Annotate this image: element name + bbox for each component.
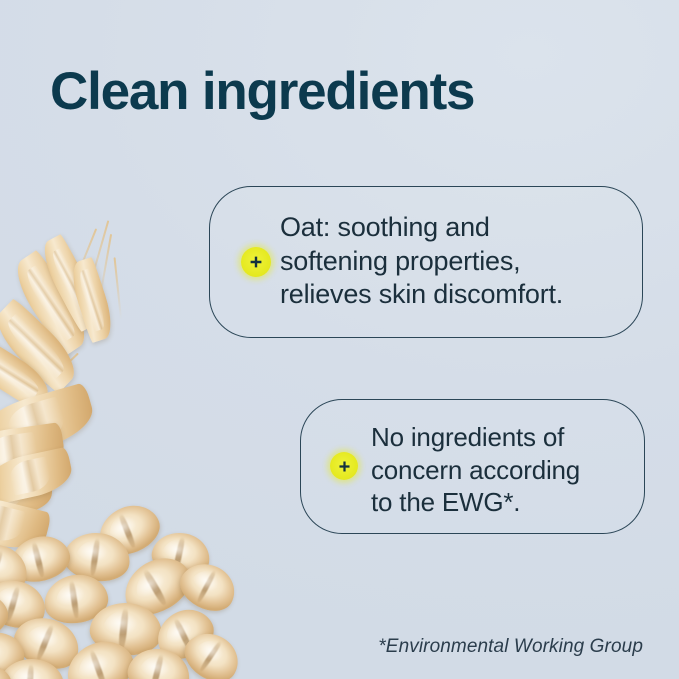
plus-icon [241,247,271,277]
plus-icon [330,452,358,480]
info-card-oat-benefit: Oat: soothing and softening properties, … [209,186,643,338]
info-card-text: No ingredients of concern according to t… [371,421,580,519]
info-card-text: Oat: soothing and softening properties, … [280,211,563,312]
info-card-ewg-rating: No ingredients of concern according to t… [300,399,645,534]
page-title: Clean ingredients [50,64,474,120]
product-ingredient-poster: Clean ingredients Oat: soothing and soft… [0,0,679,679]
footnote-text: *Environmental Working Group [378,636,643,658]
